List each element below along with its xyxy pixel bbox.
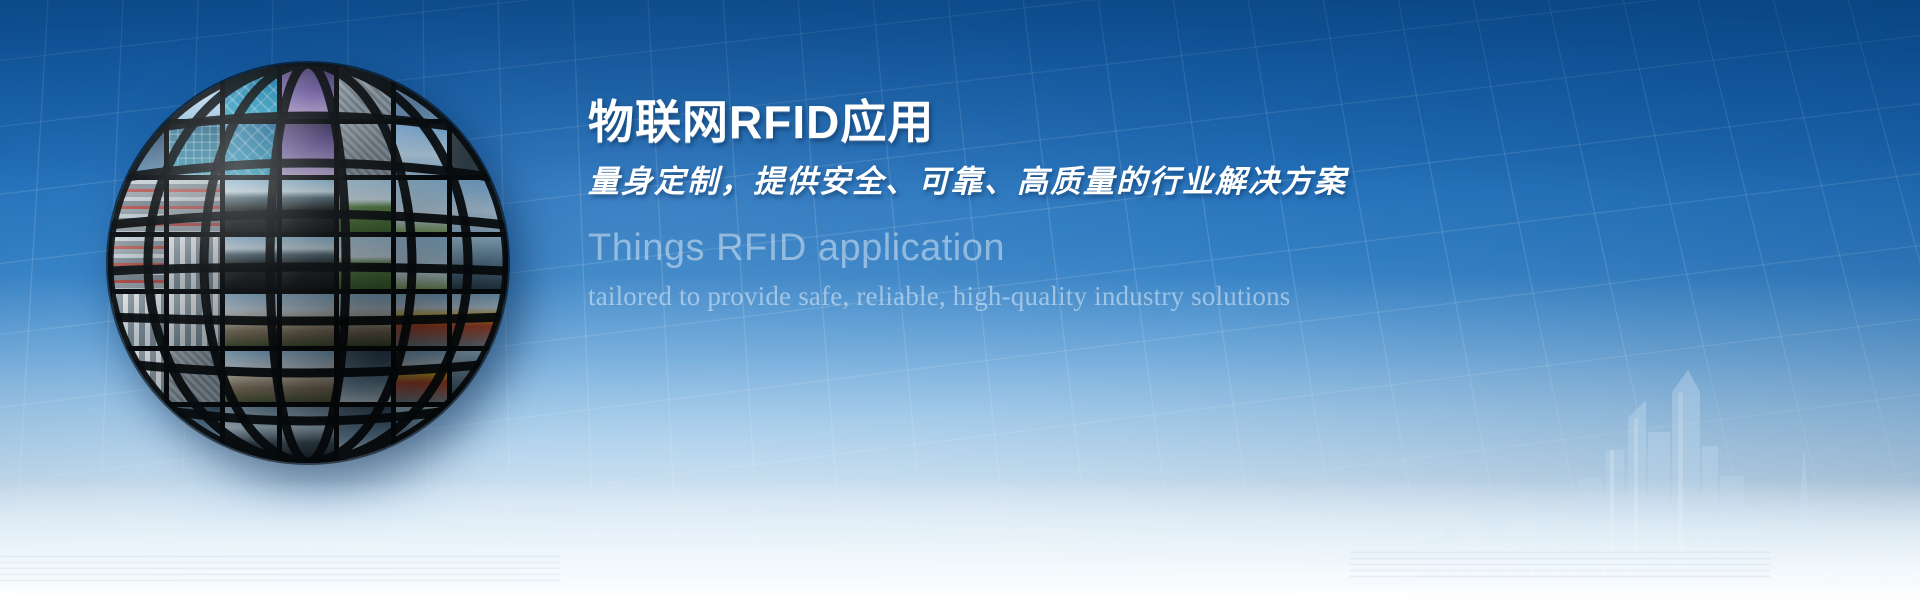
subtitle-english: tailored to provide safe, reliable, high…: [588, 280, 1648, 312]
page-title: 物联网RFID应用: [588, 96, 1648, 149]
banner-copy: 物联网RFID应用 量身定制，提供安全、可靠、高质量的行业解决方案 Things…: [588, 96, 1648, 312]
water-reflection-right: [1350, 552, 1770, 578]
globe-meridian-lines: [108, 63, 508, 463]
iot-globe-graphic: [100, 55, 530, 495]
rfid-hero-banner: 物联网RFID应用 量身定制，提供安全、可靠、高质量的行业解决方案 Things…: [0, 0, 1920, 600]
horizon-fade: [0, 480, 1920, 600]
water-reflection-left: [0, 556, 560, 582]
subtitle-chinese: 量身定制，提供安全、可靠、高质量的行业解决方案: [588, 163, 1648, 202]
photo-mosaic-globe: [108, 63, 508, 463]
title-english: Things RFID application: [588, 228, 1648, 270]
